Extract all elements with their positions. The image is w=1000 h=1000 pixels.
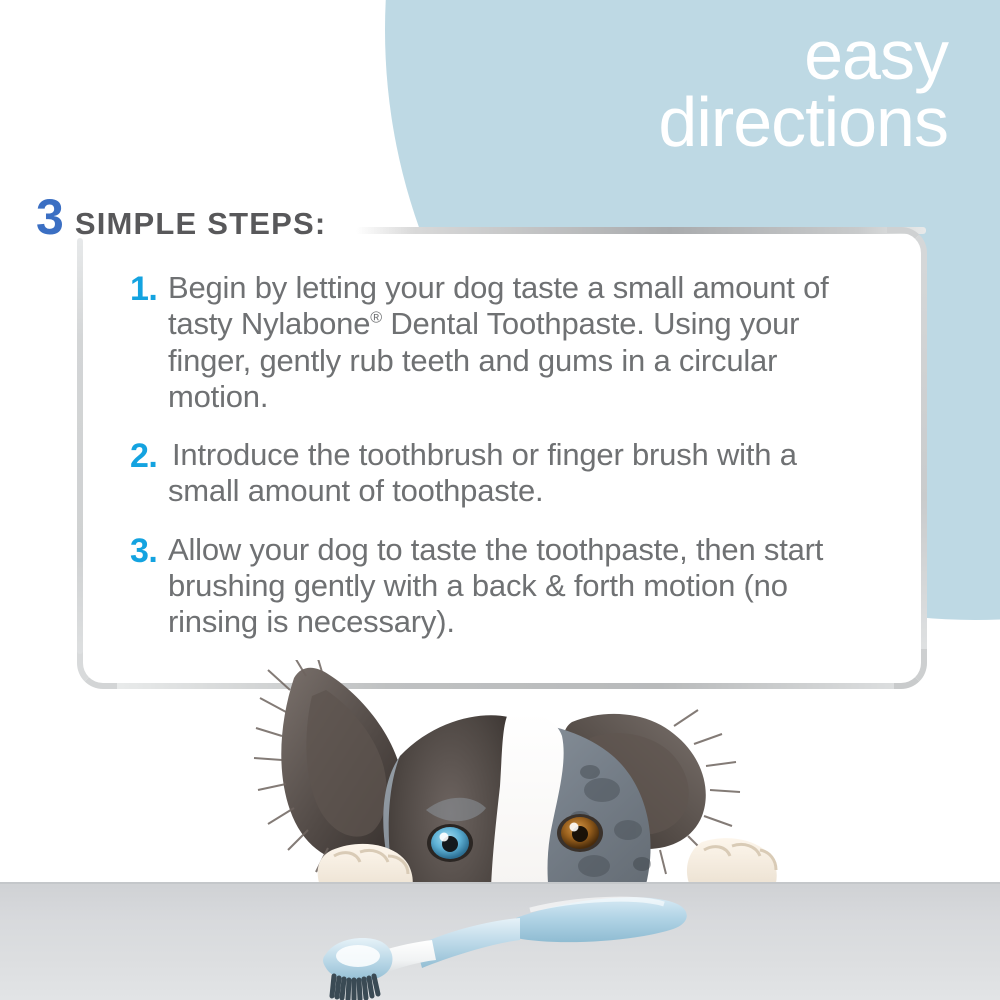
dog-toothbrush — [320, 880, 700, 1000]
step-text: Introduce the toothbrush or finger brush… — [168, 437, 870, 510]
toothbrush-illustration — [320, 880, 700, 1000]
toothbrush-bristles — [332, 976, 378, 999]
step-text: Allow your dog to taste the toothpaste, … — [168, 532, 870, 641]
steps-heading-number: 3 — [36, 192, 63, 242]
steps-heading-label: SIMPLE STEPS: — [75, 208, 327, 239]
dog-eye-right-brown — [557, 814, 603, 852]
instructions-panel: 1. Begin by letting your dog taste a sma… — [78, 228, 926, 688]
steps-list: 1. Begin by letting your dog taste a sma… — [130, 270, 870, 640]
poster-canvas: easy directions 3 SIMPLE STEPS: 1. Begin… — [0, 0, 1000, 1000]
headline: easy directions — [658, 22, 948, 155]
headline-line-1: easy — [658, 22, 948, 89]
panel-corner-bottom-left — [77, 649, 117, 689]
steps-heading: 3 SIMPLE STEPS: — [36, 192, 326, 242]
list-item: 3. Allow your dog to taste the toothpast… — [130, 532, 870, 641]
step-number: 3. — [130, 532, 168, 571]
list-item: 2. Introduce the toothbrush or finger br… — [130, 437, 870, 510]
panel-top-border — [356, 227, 926, 234]
panel-right-border — [921, 264, 927, 654]
dog-eye-left-blue — [427, 824, 473, 862]
registered-trademark-icon: ® — [370, 309, 382, 327]
panel-left-border — [77, 238, 83, 654]
headline-line-2: directions — [658, 89, 948, 156]
list-item: 1. Begin by letting your dog taste a sma… — [130, 270, 870, 415]
step-number: 1. — [130, 270, 168, 309]
step-number: 2. — [130, 437, 168, 476]
step-text: Begin by letting your dog taste a small … — [168, 270, 870, 415]
